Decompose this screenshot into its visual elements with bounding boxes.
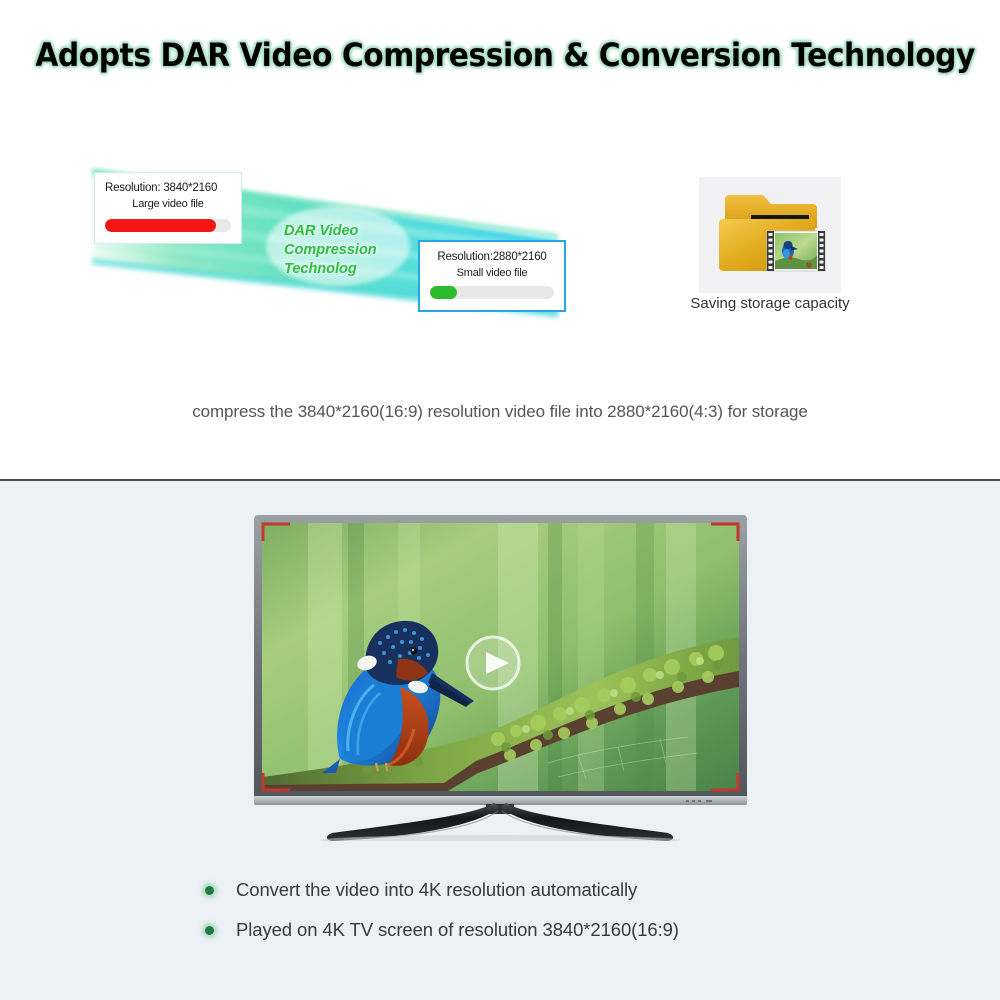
tv-playback-section: Convert the video into 4K resolution aut… — [0, 481, 1000, 1000]
source-resolution-label: Resolution: 3840*2160 — [105, 182, 241, 194]
bullet-dot-icon — [205, 886, 214, 895]
storage-block: Saving storage capacity — [699, 177, 841, 327]
folder-with-video-icon — [709, 183, 831, 287]
tv-graphic — [248, 511, 753, 841]
list-item: Convert the video into 4K resolution aut… — [205, 879, 905, 901]
compression-section: Adopts DAR Video Compression & Conversio… — [0, 0, 1000, 480]
bullet-dot-icon — [205, 926, 214, 935]
compression-caption: compress the 3840*2160(16:9) resolution … — [0, 402, 1000, 422]
target-progress-fill — [430, 286, 457, 299]
source-progress-fill — [105, 219, 216, 232]
compression-diagram: Resolution: 3840*2160 Large video file D… — [88, 166, 568, 326]
funnel-technology-label: DAR Video Compression Technolog — [284, 222, 402, 279]
target-progress-bar — [430, 286, 554, 299]
page-title: Adopts DAR Video Compression & Conversio… — [0, 36, 1000, 88]
storage-caption: Saving storage capacity — [675, 293, 865, 314]
list-item: Played on 4K TV screen of resolution 384… — [205, 919, 905, 941]
page-title-text: Adopts DAR Video Compression & Conversio… — [35, 36, 975, 74]
feature-bullet-list: Convert the video into 4K resolution aut… — [205, 879, 905, 959]
source-progress-bar — [105, 219, 231, 232]
tv-illustration — [248, 511, 753, 841]
source-file-label: Large video file — [95, 198, 241, 210]
source-file-card: Resolution: 3840*2160 Large video file — [94, 172, 242, 244]
bullet-text: Convert the video into 4K resolution aut… — [236, 879, 637, 901]
target-file-card: Resolution:2880*2160 Small video file — [418, 240, 566, 312]
target-file-label: Small video file — [420, 267, 564, 279]
play-button-overlay — [467, 637, 519, 689]
bullet-text: Played on 4K TV screen of resolution 384… — [236, 919, 679, 941]
target-resolution-label: Resolution:2880*2160 — [420, 251, 564, 263]
